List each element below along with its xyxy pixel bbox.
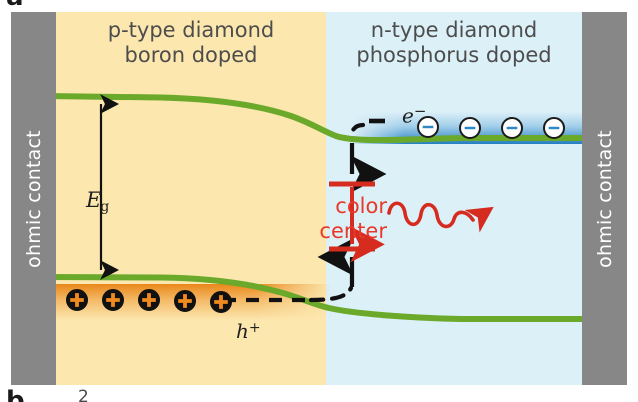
hole-carrier xyxy=(210,291,232,313)
panel-b-partial-text: 2 xyxy=(78,389,89,402)
band-gap-label: Eg xyxy=(86,188,109,215)
plus-sign-icon xyxy=(139,290,159,310)
hole-carrier xyxy=(66,289,88,311)
plus-sign-icon xyxy=(67,290,87,310)
plus-sign-icon xyxy=(103,290,123,310)
panel-label-a: a xyxy=(6,0,24,10)
hole-symbol: h xyxy=(236,319,249,343)
electron-carrier xyxy=(459,117,481,139)
electron-symbol: e xyxy=(402,103,414,127)
ohmic-contact-left: ohmic contact xyxy=(11,12,56,385)
minus-sign-icon xyxy=(545,119,563,137)
electron-symbol-label: e− xyxy=(402,102,426,127)
hole-carrier xyxy=(174,290,196,312)
electron-injection-dashed-path xyxy=(351,125,363,136)
electron-carrier xyxy=(543,117,565,139)
electron-carrier xyxy=(501,117,523,139)
minus-sign-icon xyxy=(461,119,479,137)
ohmic-contact-right-label: ohmic contact xyxy=(594,130,616,268)
device-stack: p-type diamond boron doped n-type diamon… xyxy=(11,12,627,385)
color-center-label: color center xyxy=(283,194,387,244)
hole-symbol-label: h+ xyxy=(236,319,261,343)
ohmic-contact-left-label: ohmic contact xyxy=(23,130,45,268)
color-center-label-line1: color xyxy=(283,194,387,219)
color-center-label-line2: center xyxy=(283,219,387,244)
plus-sign-icon xyxy=(211,292,231,312)
electron-superscript: − xyxy=(414,102,427,120)
band-gap-subscript: g xyxy=(100,199,109,215)
minus-sign-icon xyxy=(503,119,521,137)
hole-injection-dashed-curve xyxy=(311,288,351,300)
ohmic-contact-right: ohmic contact xyxy=(582,12,627,385)
hole-superscript: + xyxy=(249,320,261,336)
plus-sign-icon xyxy=(175,291,195,311)
hole-carrier xyxy=(102,289,124,311)
panel-label-b: b xyxy=(6,388,25,402)
emitted-photon-wave-icon xyxy=(389,203,473,226)
band-diagram-figure: a p-type diamond boron doped n-type diam… xyxy=(0,0,638,402)
hole-carrier xyxy=(138,289,160,311)
